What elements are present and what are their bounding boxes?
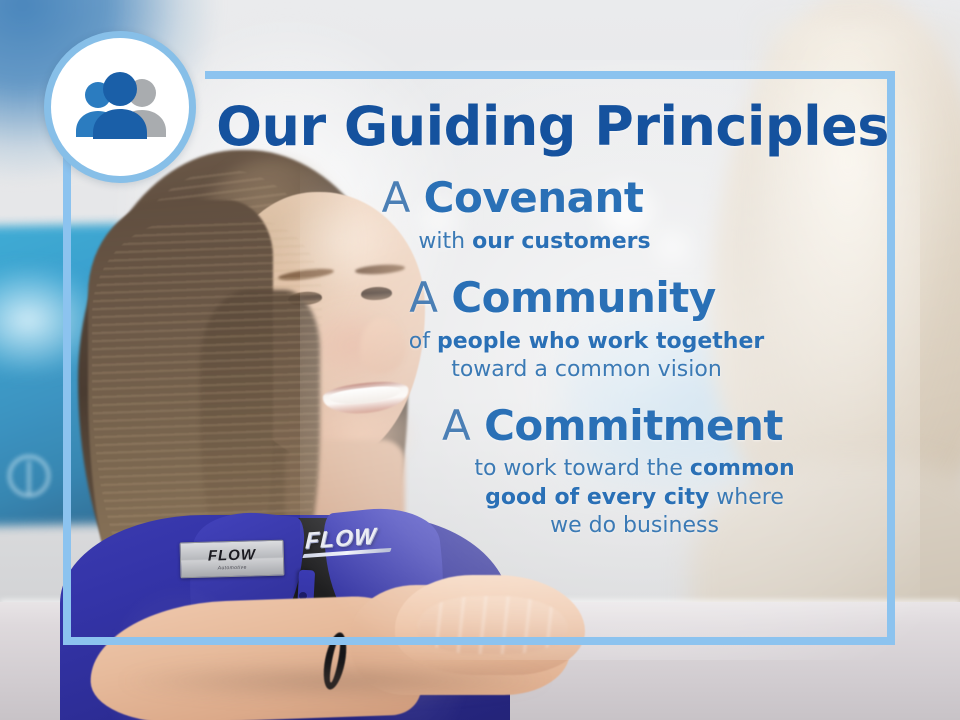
principle-heading: A Community <box>220 276 905 320</box>
principle-subtext: to work toward the common good of every … <box>292 455 960 539</box>
principle-community: A Community of people who work together … <box>220 276 905 384</box>
subtext-line: with our customers <box>192 228 877 256</box>
page-title: Our Guiding Principles <box>210 78 895 154</box>
principle-article: A <box>442 401 471 450</box>
subtext-emphasis: our customers <box>472 229 651 254</box>
people-group-icon-badge <box>44 31 196 183</box>
text-content: Our Guiding Principles A Covenant with o… <box>210 78 895 638</box>
people-group-icon <box>68 71 172 143</box>
arm-shadow <box>120 668 550 700</box>
subtext-line: of people who work together <box>244 328 929 356</box>
subtext-emphasis: people who work together <box>437 329 764 354</box>
display-logo-icon <box>8 455 50 497</box>
principle-keyword: Commitment <box>484 401 783 450</box>
principle-heading: A Covenant <box>170 176 855 220</box>
principle-commitment: A Commitment to work toward the common g… <box>270 404 955 540</box>
principle-article: A <box>382 173 411 222</box>
principle-subtext: of people who work together toward a com… <box>244 328 929 384</box>
principle-covenant: A Covenant with our customers <box>170 176 855 256</box>
subtext-emphasis: common <box>690 456 795 481</box>
subtext-emphasis: good of every city <box>485 485 709 510</box>
principle-heading: A Commitment <box>270 404 955 448</box>
principle-article: A <box>409 273 438 322</box>
subtext-line: we do business <box>292 512 960 540</box>
principle-keyword: Covenant <box>424 173 644 222</box>
subtext-line: toward a common vision <box>244 356 929 384</box>
guiding-principles-banner: FLOW Automotive FLOW <box>0 0 960 720</box>
principle-subtext: with our customers <box>192 228 877 256</box>
subtext-line: good of every city where <box>292 484 960 512</box>
subtext-line: to work toward the common <box>292 455 960 483</box>
principle-keyword: Community <box>451 273 715 322</box>
